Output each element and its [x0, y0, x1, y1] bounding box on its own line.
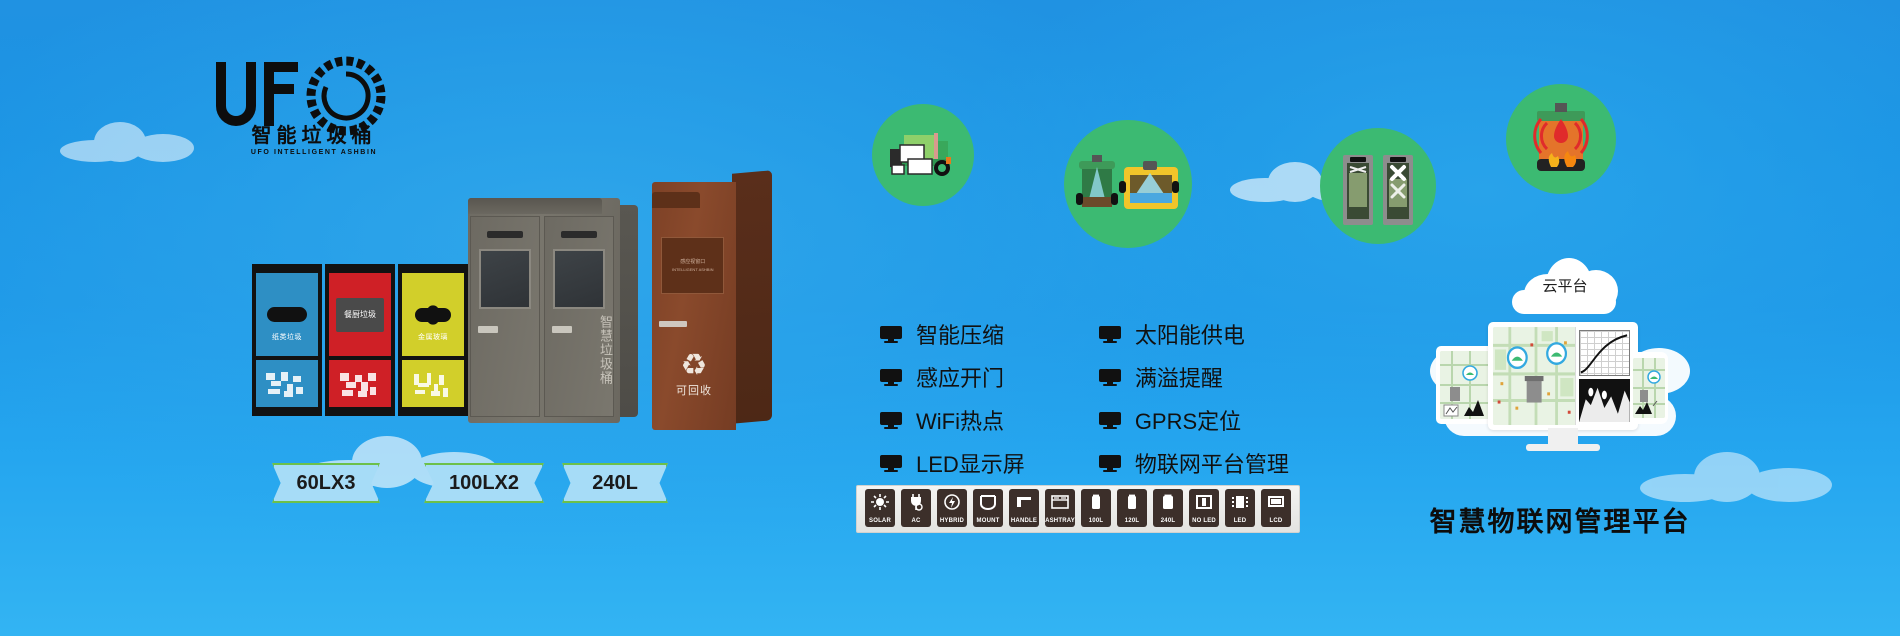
bin-100l-icon [1081, 489, 1111, 515]
feature-item: 智能压缩 [880, 318, 1025, 350]
option-chip-lcd[interactable]: LCD [1261, 489, 1291, 529]
monitor-icon [880, 455, 902, 472]
city-map-icon [1493, 327, 1575, 425]
grey-bin-led-strip-right [561, 231, 596, 238]
monitor-icon [880, 412, 902, 429]
kitchen-screen-panel: 餐厨垃圾 [336, 298, 383, 332]
promo-banner: 智能垃圾桶 UFO INTELLIGENT ASHBIN 纸类垃圾 餐厨垃圾 [0, 0, 1900, 636]
grey-bin-body [468, 198, 620, 423]
bin-120l-icon [1117, 489, 1147, 515]
option-label: 240L [1153, 515, 1183, 527]
platform-caption: 智慧物联网管理平台 [1370, 500, 1750, 539]
feature-circle-fire-alarm[interactable] [1506, 84, 1616, 194]
grey-bin-window-right [553, 249, 605, 309]
grey-bin-handle-left[interactable] [478, 326, 498, 333]
monitor-icon [1099, 455, 1121, 472]
product-tri-bin[interactable]: 纸类垃圾 餐厨垃圾 [252, 264, 468, 416]
grey-bin-top [468, 198, 602, 214]
feature-circle-compaction[interactable] [1320, 128, 1436, 244]
logo-chinese-name: 智能垃圾桶 [234, 126, 394, 146]
monitor-chart-panel [1575, 327, 1633, 425]
option-chip-mount[interactable]: MOUNT [973, 489, 1003, 529]
feature-label: 满溢提醒 [1135, 361, 1223, 393]
grey-bin-led-strip-left [487, 231, 522, 238]
bin-compartment-paper[interactable]: 纸类垃圾 [252, 264, 322, 416]
power-plug-icon [901, 489, 931, 515]
feature-column-right: 太阳能供电 满溢提醒 GPRS定位 物联网平台管理 [1099, 318, 1289, 479]
city-map-icon [1440, 351, 1490, 419]
option-label: ASHTRAY [1045, 515, 1075, 527]
feature-item: 感应开门 [880, 361, 1025, 393]
feature-item: 满溢提醒 [1099, 361, 1289, 393]
recycle-icon: ♻ [652, 351, 736, 381]
option-icon-strip: SOLAR AC HYBRID MOUNT [856, 485, 1300, 533]
feature-label: 物联网平台管理 [1135, 447, 1289, 479]
option-chip-solar[interactable]: SOLAR [865, 489, 895, 529]
feature-item: GPRS定位 [1099, 404, 1289, 436]
option-label: AC [901, 515, 931, 527]
no-led-icon [1189, 489, 1219, 515]
option-chip-ac[interactable]: AC [901, 489, 931, 529]
feature-circle-fill-level[interactable] [1064, 120, 1192, 248]
phone-device[interactable] [1630, 352, 1668, 424]
monitor-icon [1099, 412, 1121, 429]
brown-bin-window: 感应视窗口 INTELLIGENT ASHBIN [661, 237, 724, 294]
cloud-decor-left [60, 118, 210, 164]
monitor-stand [1548, 428, 1578, 444]
paper-slot-icon [267, 307, 308, 322]
litter-graphic-kitchen [334, 370, 386, 400]
logo-english-name: UFO INTELLIGENT ASHBIN [234, 149, 394, 156]
hybrid-power-icon [937, 489, 967, 515]
brown-bin-handle[interactable] [659, 321, 688, 327]
bin-240l-icon [1153, 489, 1183, 515]
fire-alarm-icon [1523, 101, 1599, 177]
city-map-icon [1633, 358, 1665, 418]
feature-circle-collection-truck[interactable] [872, 104, 974, 206]
tablet-screen [1440, 351, 1490, 419]
phone-screen [1633, 358, 1665, 418]
option-label: LCD [1261, 515, 1291, 527]
option-label: SOLAR [865, 515, 895, 527]
monitor-device[interactable] [1488, 322, 1638, 430]
grey-bin-body-text: 智慧垃圾桶 [592, 315, 612, 385]
capacity-ribbon-240l: 240L [562, 463, 668, 503]
grey-bin-door-left[interactable] [470, 216, 540, 417]
option-label: NO LED [1189, 515, 1219, 527]
monitor-map-panel [1493, 327, 1575, 425]
monitor-icon [880, 326, 902, 343]
bin-compartment-metalglass[interactable]: 金属玻璃 [398, 264, 468, 416]
compartment-label-metalglass: 金属玻璃 [402, 332, 464, 342]
grey-bin-handle-right[interactable] [552, 326, 572, 333]
cloud-platform-bubble: 云平台 [1506, 258, 1624, 314]
monitor-icon [880, 369, 902, 386]
feature-list: 智能压缩 感应开门 WiFi热点 LED显示屏 太阳能供电 满溢提醒 [880, 318, 1289, 479]
brown-bin-recycle-label: 可回收 [652, 382, 736, 398]
garbage-truck-icon [886, 127, 960, 183]
option-chip-no-led[interactable]: NO LED [1189, 489, 1219, 529]
ufo-ring-icon [311, 61, 381, 131]
option-label: 120L [1117, 515, 1147, 527]
ashtray-icon [1045, 489, 1075, 515]
option-label: LED [1225, 515, 1255, 527]
iot-platform-illustration: 云平台 [1430, 300, 1690, 480]
product-brown-bin[interactable]: 感应视窗口 INTELLIGENT ASHBIN ♻ 可回收 [652, 172, 772, 430]
feature-label: 智能压缩 [916, 318, 1004, 350]
feature-column-left: 智能压缩 感应开门 WiFi热点 LED显示屏 [880, 318, 1025, 479]
capacity-label-240l: 240L [592, 472, 638, 495]
option-chip-240l[interactable]: 240L [1153, 489, 1183, 529]
brown-bin-panel-title: 感应视窗口 [680, 258, 705, 265]
grey-bin-window-left [479, 249, 531, 309]
bin-compartment-kitchen[interactable]: 餐厨垃圾 [325, 264, 395, 416]
feature-item: WiFi热点 [880, 404, 1025, 436]
feature-label: GPRS定位 [1135, 404, 1241, 436]
cloud-platform-label: 云平台 [1506, 275, 1624, 296]
feature-item: 太阳能供电 [1099, 318, 1289, 350]
option-chip-handle[interactable]: HANDLE [1009, 489, 1039, 529]
wall-mount-icon [973, 489, 1003, 515]
option-label: HANDLE [1009, 515, 1039, 527]
feature-label: 太阳能供电 [1135, 318, 1245, 350]
compaction-bin-icon [1339, 145, 1417, 227]
litter-graphic-paper [261, 370, 313, 400]
capacity-label-100lx2: 100LX2 [449, 472, 519, 495]
option-chip-ashtray[interactable]: ASHTRAY [1045, 489, 1075, 529]
monitor-screen [1493, 327, 1633, 425]
monitor-icon [1099, 369, 1121, 386]
feature-label: LED显示屏 [916, 447, 1025, 479]
area-chart-icon [1579, 379, 1630, 423]
option-label: HYBRID [937, 515, 967, 527]
option-label: MOUNT [973, 515, 1003, 527]
litter-graphic-metalglass [407, 370, 459, 400]
brown-bin-recycle-block: ♻ 可回收 [652, 351, 736, 398]
brown-bin-top [652, 192, 700, 208]
feature-item: LED显示屏 [880, 447, 1025, 479]
capacity-ribbon-100lx2: 100LX2 [424, 463, 544, 503]
handle-icon [1009, 489, 1039, 515]
monitor-base [1526, 444, 1600, 451]
fill-level-sensor-icon [1076, 153, 1180, 215]
brand-logo: 智能垃圾桶 UFO INTELLIGENT ASHBIN [206, 56, 396, 156]
option-chip-hybrid[interactable]: HYBRID [937, 489, 967, 529]
product-grey-bin[interactable]: 智慧垃圾桶 [468, 198, 638, 423]
feature-item: 物联网平台管理 [1099, 447, 1289, 479]
sun-icon [865, 489, 895, 515]
option-chip-100l[interactable]: 100L [1081, 489, 1111, 529]
capacity-ribbon-60lx3: 60LX3 [272, 463, 380, 503]
option-label: 100L [1081, 515, 1111, 527]
option-chip-led[interactable]: LED [1225, 489, 1255, 529]
capacity-label-60lx3: 60LX3 [297, 472, 356, 495]
tablet-device[interactable] [1436, 346, 1494, 424]
feature-label: 感应开门 [916, 361, 1004, 393]
brown-bin-side-panel [732, 170, 772, 423]
metalglass-slot-icon [407, 305, 459, 325]
monitor-icon [1099, 326, 1121, 343]
option-chip-120l[interactable]: 120L [1117, 489, 1147, 529]
brown-bin-face: 感应视窗口 INTELLIGENT ASHBIN ♻ 可回收 [652, 182, 736, 430]
compartment-label-paper: 纸类垃圾 [256, 332, 318, 342]
feature-label: WiFi热点 [916, 404, 1004, 436]
brown-bin-panel-sub: INTELLIGENT ASHBIN [672, 267, 714, 272]
line-chart-icon [1579, 330, 1630, 376]
led-panel-icon [1225, 489, 1255, 515]
lcd-panel-icon [1261, 489, 1291, 515]
